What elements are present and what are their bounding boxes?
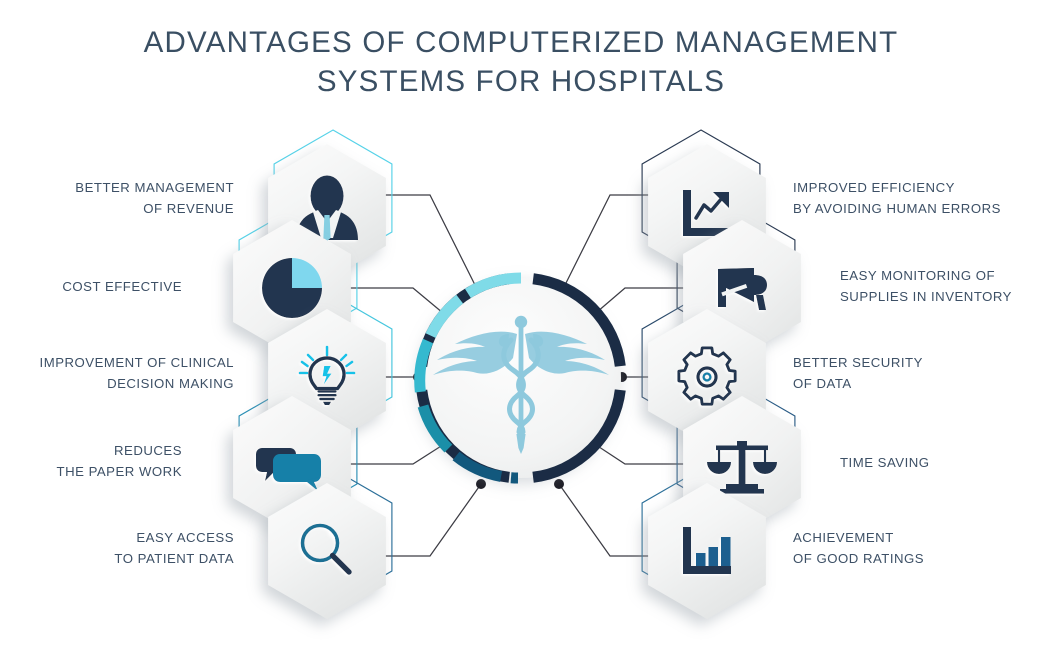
- label-easy-access-to-patient-data: EASY ACCESS TO PATIENT DATA: [10, 528, 234, 570]
- center-badge[interactable]: [418, 275, 625, 482]
- label-reduces-the-paper-work: REDUCES THE PAPER WORK: [10, 441, 182, 483]
- label-improved-efficiency-by-avoiding-human-errors: IMPROVED EFFICIENCY BY AVOIDING HUMAN ER…: [793, 178, 1033, 220]
- label-better-management-of-revenue: BETTER MANAGEMENT OF REVENUE: [10, 178, 234, 220]
- label-time-saving: TIME SAVING: [840, 453, 1033, 474]
- label-easy-monitoring-of-supplies-in-inventory: EASY MONITORING OF SUPPLIES IN INVENTORY: [840, 266, 1033, 308]
- label-achievement-of-good-ratings: ACHIEVEMENT OF GOOD RATINGS: [793, 528, 1033, 570]
- pie-chart-icon: [262, 258, 322, 318]
- label-improvement-of-clinical-decision-making: IMPROVEMENT OF CLINICAL DECISION MAKING: [10, 353, 234, 395]
- infographic-canvas: ADVANTAGES OF COMPUTERIZED MANAGEMENT SY…: [0, 0, 1042, 650]
- label-better-security-of-data: BETTER SECURITY OF DATA: [793, 353, 1033, 395]
- label-cost-effective: COST EFFECTIVE: [10, 277, 182, 298]
